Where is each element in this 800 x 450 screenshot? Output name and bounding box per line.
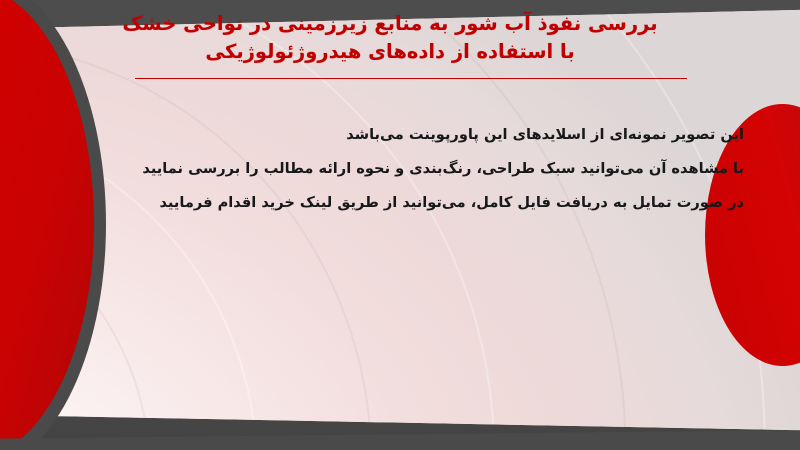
background-arc-bands bbox=[0, 0, 800, 450]
title-line-2: با استفاده از داده‌های هیدروژئولوژیکی bbox=[40, 38, 740, 66]
body-line-1: این تصویر نمونه‌ای از اسلایدهای این پاور… bbox=[120, 118, 744, 152]
slide-title: بررسی نفوذ آب شور به منابع زیرزمینی در ن… bbox=[40, 10, 740, 65]
presentation-slide: بررسی نفوذ آب شور به منابع زیرزمینی در ن… bbox=[0, 0, 800, 450]
title-line-1: بررسی نفوذ آب شور به منابع زیرزمینی در ن… bbox=[40, 10, 740, 38]
body-line-3: در صورت تمایل به دریافت فایل کامل، می‌تو… bbox=[120, 186, 744, 220]
title-underline-rule bbox=[135, 78, 687, 79]
body-line-2: با مشاهده آن می‌توانید سبک طراحی، رنگ‌بن… bbox=[120, 152, 744, 186]
slide-body: این تصویر نمونه‌ای از اسلایدهای این پاور… bbox=[120, 118, 744, 220]
slide-canvas bbox=[0, 0, 800, 450]
